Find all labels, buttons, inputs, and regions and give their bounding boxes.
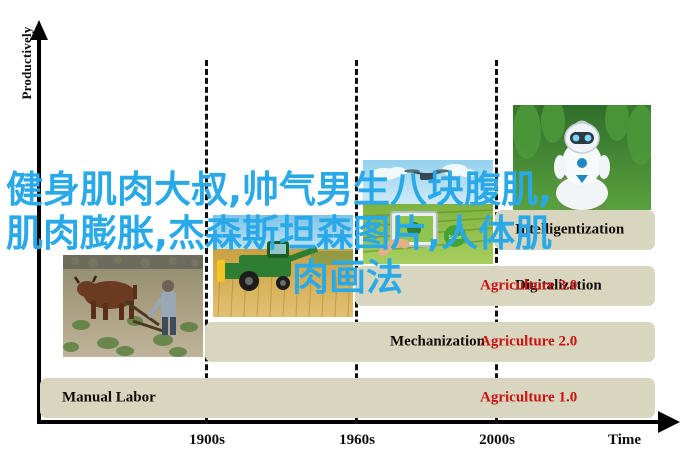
stage-bar-digitalization: Digitalization Agriculture 3.0 — [355, 266, 655, 306]
combine-harvester-photo — [213, 215, 353, 317]
ox-plowing-photo — [63, 255, 203, 357]
stage-bar-intelligentization: Intelligentization — [495, 210, 655, 250]
x-axis-label: Time — [608, 432, 641, 449]
x-tick-2000s: 2000s — [479, 432, 515, 449]
stage-bar-mechanization: Mechanization Agriculture 2.0 — [205, 322, 655, 362]
version-label-agriculture-2: Agriculture 2.0 — [480, 334, 577, 351]
x-tick-1960s: 1960s — [339, 432, 375, 449]
x-axis-arrowhead — [658, 411, 680, 433]
version-label-agriculture-1: Agriculture 1.0 — [480, 390, 577, 407]
chart-canvas: Productively Time 1900s 1960s 2000s — [0, 0, 695, 465]
stage-bar-manual-labor: Manual Labor Agriculture 1.0 — [40, 378, 655, 418]
stage-label-manual-labor: Manual Labor — [62, 390, 156, 407]
era-divider-1900s — [205, 60, 208, 424]
era-divider-1960s — [355, 60, 358, 424]
version-label-agriculture-3: Agriculture 3.0 — [480, 278, 577, 295]
stage-label-mechanization: Mechanization — [390, 334, 485, 351]
y-axis-label: Productively — [19, 8, 35, 118]
x-tick-1900s: 1900s — [189, 432, 225, 449]
digital-farming-tablet-photo: Smart — [363, 160, 493, 264]
farm-robot-photo — [513, 105, 651, 210]
x-axis-line — [37, 420, 662, 424]
stage-label-intelligentization: Intelligentization — [515, 222, 624, 239]
svg-text:Smart: Smart — [448, 235, 462, 241]
y-axis-line — [37, 36, 41, 424]
